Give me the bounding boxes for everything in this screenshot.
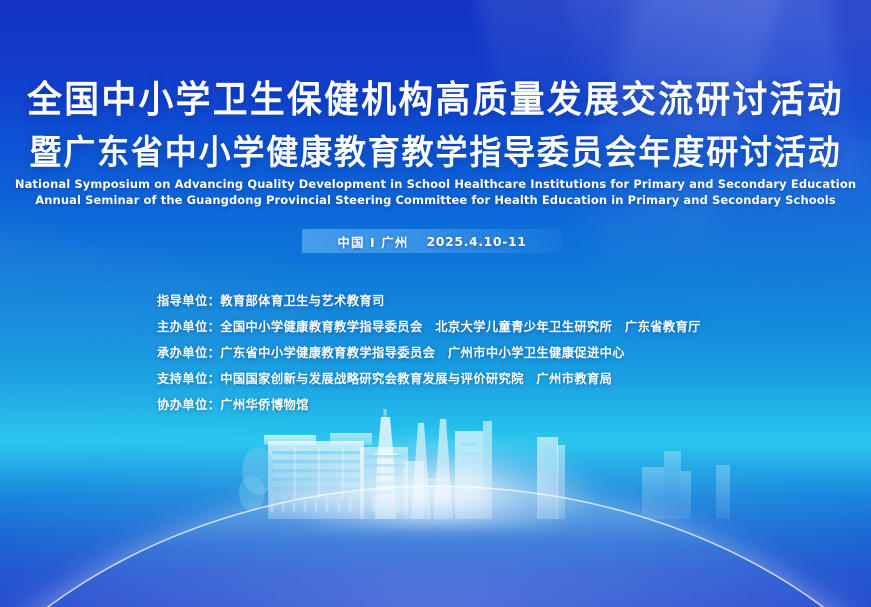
organization-row: 协办单位：广州华侨博物馆 xyxy=(157,392,701,418)
badge-date: 2025.4.10-11 xyxy=(426,234,526,249)
subtitle-line2: Annual Seminar of the Guangdong Provinci… xyxy=(0,192,871,208)
organization-row: 承办单位：广东省中小学健康教育教学指导委员会 广州市中小学卫生健康促进中心 xyxy=(157,340,701,366)
organization-row: 支持单位：中国国家创新与发展战略研究会教育发展与评价研究院 广州市教育局 xyxy=(157,366,701,392)
poster-subtitle: National Symposium on Advancing Quality … xyxy=(0,176,871,208)
poster-title-line2: 暨广东省中小学健康教育教学指导委员会年度研讨活动 xyxy=(26,132,845,174)
badge-location: 中国 I 广州 xyxy=(337,232,408,251)
organization-row: 指导单位：教育部体育卫生与艺术教育司 xyxy=(157,288,701,314)
event-poster: 全国中小学卫生保健机构高质量发展交流研讨活动 暨广东省中小学健康教育教学指导委员… xyxy=(0,0,871,607)
poster-content: 全国中小学卫生保健机构高质量发展交流研讨活动 暨广东省中小学健康教育教学指导委员… xyxy=(0,0,871,607)
organization-row: 主办单位：全国中小学健康教育教学指导委员会 北京大学儿童青少年卫生研究所 广东省… xyxy=(157,314,701,340)
location-date-badge: 中国 I 广州 2025.4.10-11 xyxy=(302,229,562,253)
poster-title-line1: 全国中小学卫生保健机构高质量发展交流研讨活动 xyxy=(26,78,845,122)
subtitle-line1: National Symposium on Advancing Quality … xyxy=(0,176,871,192)
organizations-list: 指导单位：教育部体育卫生与艺术教育司 主办单位：全国中小学健康教育教学指导委员会… xyxy=(157,288,701,418)
